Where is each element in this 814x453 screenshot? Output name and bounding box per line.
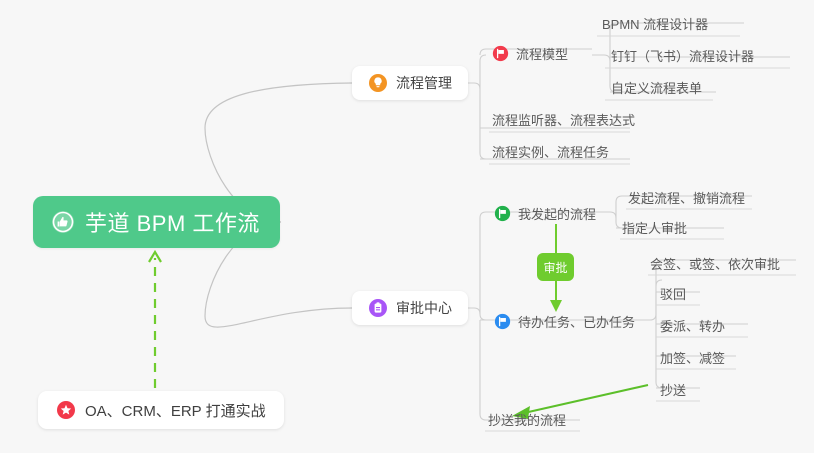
leaf-process-listener-expression[interactable]: 流程监听器、流程表达式 <box>492 108 635 130</box>
approve-badge-label: 审批 <box>543 259 567 276</box>
flag-icon <box>494 205 511 222</box>
leaf-label: BPMN 流程设计器 <box>602 14 708 33</box>
leaf-label: 流程监听器、流程表达式 <box>492 110 635 129</box>
flag-icon <box>492 45 509 62</box>
leaf-label: 抄送我的流程 <box>488 410 566 429</box>
leaf-dingtalk-designer[interactable]: 钉钉（飞书）流程设计器 <box>611 44 754 66</box>
leaf-label: 会签、或签、依次审批 <box>650 254 780 273</box>
branch-node-approval-center[interactable]: 审批中心 <box>352 291 468 325</box>
link-todo-spine-down <box>656 292 662 388</box>
approve-badge: 审批 <box>537 253 574 281</box>
link-appr-child-3 <box>480 320 580 420</box>
leaf-cc-to-me[interactable]: 抄送我的流程 <box>488 408 566 430</box>
leaf-add-remove-sign[interactable]: 加签、减签 <box>660 346 725 368</box>
leaf-custom-form[interactable]: 自定义流程表单 <box>611 76 702 98</box>
leaf-label: 抄送 <box>660 380 686 399</box>
leaf-bpmn-designer[interactable]: BPMN 流程设计器 <box>602 12 708 34</box>
leaf-label: 自定义流程表单 <box>611 78 702 97</box>
leaf-label: 指定人审批 <box>622 218 687 237</box>
node-label-my-started: 我发起的流程 <box>518 204 596 223</box>
leaf-delegate-transfer[interactable]: 委派、转办 <box>660 314 725 336</box>
dashed-arrow-head <box>149 252 161 262</box>
leaf-assignee-approval[interactable]: 指定人审批 <box>622 216 687 238</box>
link-started-spine <box>598 212 622 228</box>
branch-node-process-management[interactable]: 流程管理 <box>352 66 468 100</box>
leaf-label: 加签、减签 <box>660 348 725 367</box>
leaf-label: 流程实例、流程任务 <box>492 142 609 161</box>
leaf-countersign[interactable]: 会签、或签、依次审批 <box>650 252 780 274</box>
node-my-started-processes[interactable]: 我发起的流程 <box>494 202 596 224</box>
node-process-model[interactable]: 流程模型 <box>492 42 568 64</box>
leaf-label: 驳回 <box>660 284 686 303</box>
node-label-process-model: 流程模型 <box>516 44 568 63</box>
link-todo-spine <box>638 280 662 320</box>
leaf-label: 钉钉（飞书）流程设计器 <box>611 46 754 65</box>
leaf-label: 发起流程、撤销流程 <box>628 188 745 207</box>
clipboard-icon <box>368 298 388 318</box>
root-label: 芋道 BPM 工作流 <box>85 206 260 238</box>
footer-node-integration[interactable]: OA、CRM、ERP 打通实战 <box>38 391 284 429</box>
root-node[interactable]: 芋道 BPM 工作流 <box>33 196 280 248</box>
link-proc-spine-up <box>480 55 486 89</box>
leaf-cc[interactable]: 抄送 <box>660 378 686 400</box>
flag-icon <box>494 313 511 330</box>
leaf-label: 委派、转办 <box>660 316 725 335</box>
lightbulb-icon <box>368 73 388 93</box>
leaf-reject[interactable]: 驳回 <box>660 282 686 304</box>
branch-label-process-management: 流程管理 <box>396 73 452 93</box>
footer-node-label: OA、CRM、ERP 打通实战 <box>85 400 266 421</box>
branch-label-approval-center: 审批中心 <box>396 298 452 318</box>
dashed-arrow-group <box>149 252 161 388</box>
mindmap-canvas: 芋道 BPM 工作流 流程管理 流程模型 BPMN 流程设计器 钉钉（飞书）流程… <box>0 0 814 453</box>
leaf-start-cancel-process[interactable]: 发起流程、撤销流程 <box>628 186 745 208</box>
leaf-process-instance-task[interactable]: 流程实例、流程任务 <box>492 140 609 162</box>
thumbs-up-icon <box>51 210 75 234</box>
node-todo-done-tasks[interactable]: 待办任务、已办任务 <box>494 310 635 332</box>
star-icon <box>56 400 76 420</box>
node-label-todo-done: 待办任务、已办任务 <box>518 312 635 331</box>
